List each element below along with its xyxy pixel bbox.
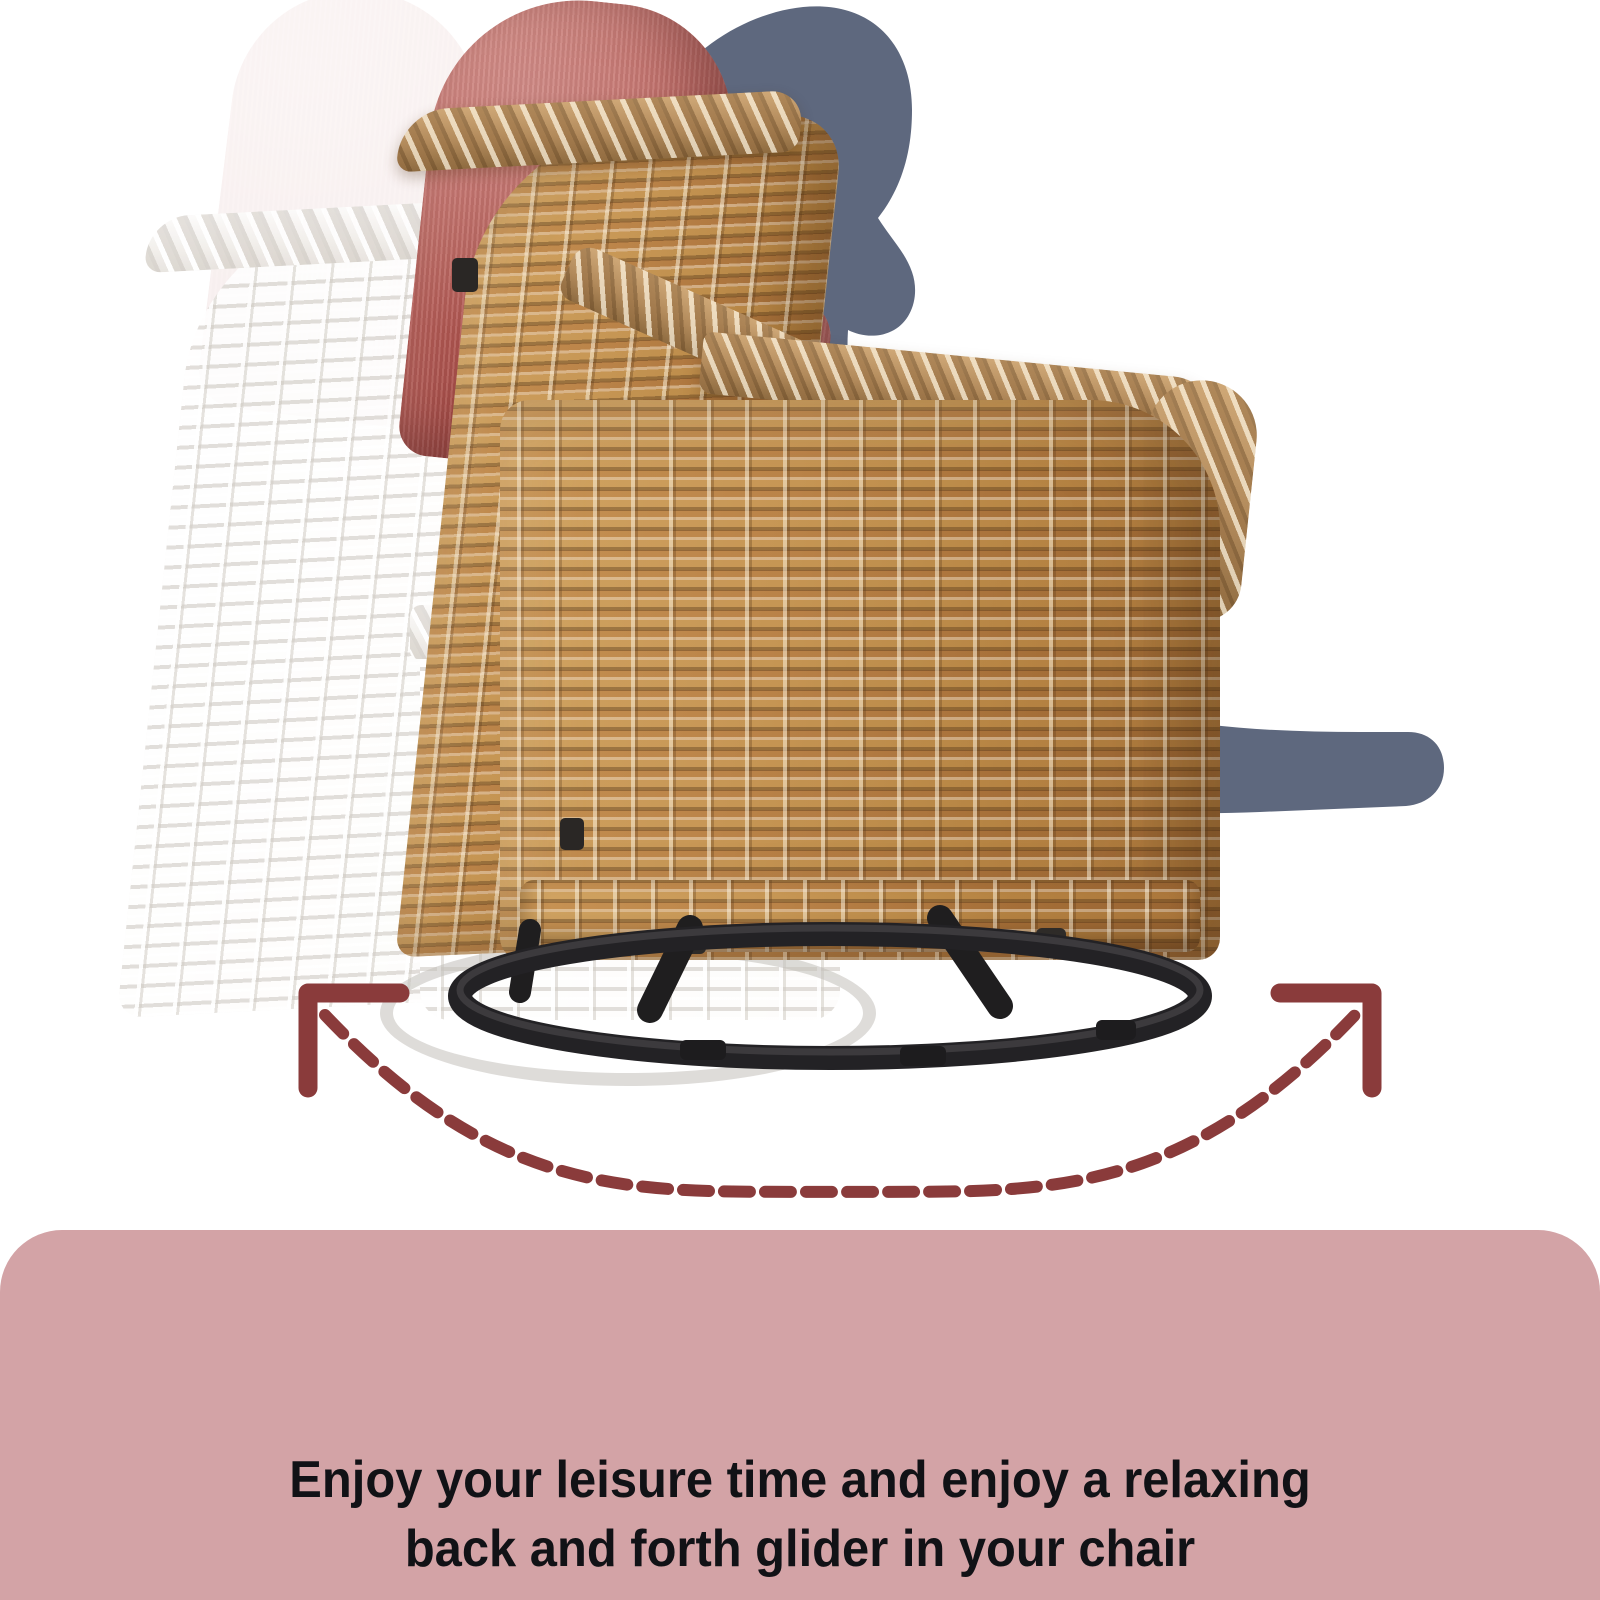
banner-subtitle-line-1: Enjoy your leisure time and enjoy a rela… (48, 1446, 1552, 1515)
chair-side-panel (500, 400, 1220, 960)
banner-subtitle: Enjoy your leisure time and enjoy a rela… (48, 1446, 1552, 1584)
banner-subtitle-line-2: back and forth glider in your chair (48, 1515, 1552, 1584)
glider-motion-arrow (250, 960, 1430, 1220)
bolt-hardware-top (452, 258, 478, 292)
bolt-hardware-mid (560, 818, 584, 850)
product-feature-image: Glider Back And Forth Enjoy your leisure… (0, 0, 1600, 1600)
